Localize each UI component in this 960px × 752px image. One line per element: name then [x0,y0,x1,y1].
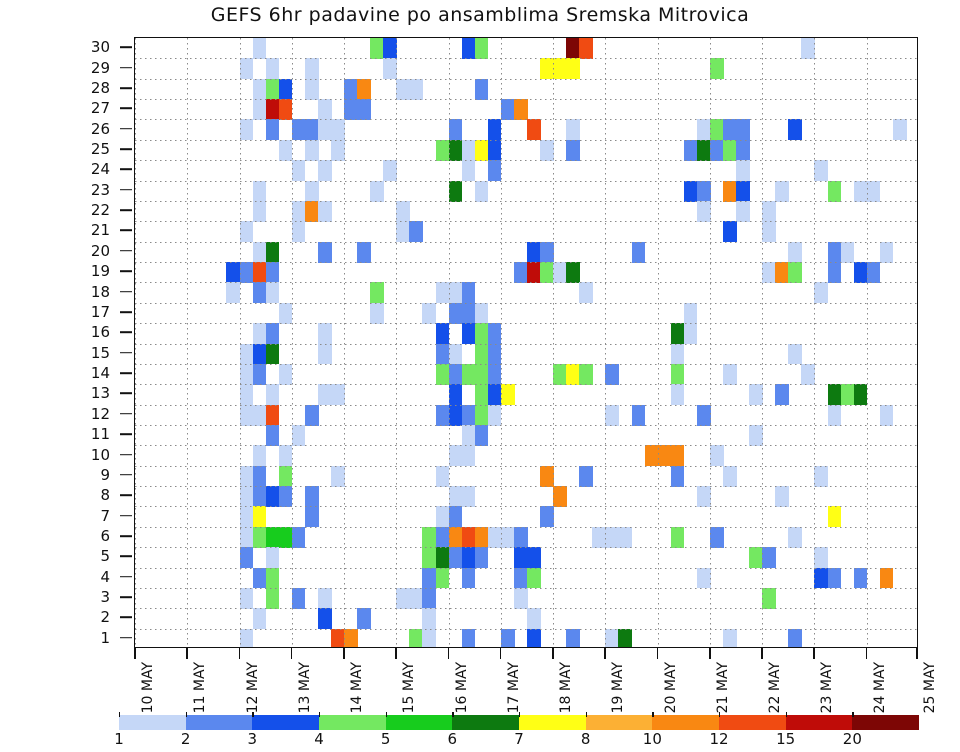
heatmap-cell [253,527,267,548]
heatmap-cell [788,629,802,648]
heatmap-cell [710,58,724,79]
heatmap-cell [723,119,737,140]
y-axis-tick-mark [120,311,132,313]
heatmap-cell [697,568,711,589]
y-axis-tick-mark [120,148,132,150]
heatmap-cell [671,344,685,365]
y-axis-tick-label: 13 [91,384,110,402]
heatmap-cell [266,405,280,426]
heatmap-cell [618,629,632,648]
y-axis-tick-mark [120,535,132,537]
heatmap-cell [240,547,254,568]
heatmap-cell [436,282,450,303]
x-axis-tick-label: 24 MAY [872,662,888,713]
heatmap-cell [488,140,502,161]
x-axis-tick-mark [500,648,502,659]
x-axis-tick-label: 21 MAY [715,662,731,713]
heatmap-cell [592,527,606,548]
heatmap-cell [253,242,267,263]
heatmap-cell [253,506,267,527]
heatmap-cell [762,262,776,283]
heatmap-cell [422,629,436,648]
heatmap-cell [253,445,267,466]
heatmap-cell [449,282,463,303]
heatmap-cell [788,527,802,548]
x-axis-tick-label: 13 MAY [297,662,313,713]
heatmap-cell [475,344,489,365]
heatmap-cell [462,160,476,181]
x-axis-tick-mark [604,648,606,659]
heatmap-cell [475,527,489,548]
heatmap-cell [710,445,724,466]
heatmap-cell [488,344,502,365]
y-axis-tick-label: 12 [91,405,110,423]
heatmap-cell [449,547,463,568]
x-axis-tick-mark [395,648,397,659]
heatmap-cell [462,38,476,59]
heatmap-cell [449,445,463,466]
heatmap-cell [488,405,502,426]
heatmap-cell [253,405,267,426]
heatmap-cell [253,466,267,487]
x-axis-tick-mark [343,648,345,659]
heatmap-cell [867,262,881,283]
heatmap-cell [762,201,776,222]
y-axis-tick-mark [120,556,132,558]
colorbar-segment [519,715,586,730]
heatmap-cell [436,506,450,527]
heatmap-cell [814,282,828,303]
colorbar-tick-label: 2 [181,730,191,748]
heatmap-cell [566,364,580,385]
x-axis-tick-mark [552,648,554,659]
heatmap-cell [409,588,423,609]
heatmap-cell [253,282,267,303]
colorbar-segment [586,715,653,730]
heatmap-cell [475,384,489,405]
heatmap-cell [305,506,319,527]
heatmap-cell [736,181,750,202]
heatmap-cell [605,405,619,426]
heatmap-cell [279,140,293,161]
heatmap-cell [788,242,802,263]
heatmap-cell [671,384,685,405]
x-axis-tick-label: 18 MAY [558,662,574,713]
heatmap-cell [292,527,306,548]
heatmap-cell [266,242,280,263]
heatmap-cell [475,303,489,324]
heatmap-cell [867,181,881,202]
heatmap-cell [422,588,436,609]
y-axis-tick-label: 25 [91,140,110,158]
heatmap-cell [736,140,750,161]
colorbar-tick-mark [586,712,587,717]
heatmap-cell [396,201,410,222]
heatmap-cell [240,466,254,487]
heatmap-cell [462,140,476,161]
heatmap-cell [723,466,737,487]
heatmap-cell [854,181,868,202]
y-axis-tick-label: 21 [91,221,110,239]
heatmap-cell [449,119,463,140]
heatmap-cell [240,344,254,365]
heatmap-cell [828,405,842,426]
heatmap-cell [266,344,280,365]
heatmap-cell [396,79,410,100]
y-axis-tick-mark [120,209,132,211]
heatmap-cell [814,547,828,568]
heatmap-cell [697,405,711,426]
heatmap-cell [710,119,724,140]
heatmap-cell [475,181,489,202]
heatmap-cell [279,79,293,100]
heatmap-cell [527,568,541,589]
colorbar-tick-label: 20 [843,730,862,748]
heatmap-cell [305,405,319,426]
heatmap-cell [566,629,580,648]
y-axis-tick-label: 26 [91,120,110,138]
heatmap-cell [318,608,332,629]
heatmap-cell [279,303,293,324]
heatmap-cell [396,588,410,609]
y-axis-tick-label: 14 [91,364,110,382]
heatmap-cell [422,568,436,589]
x-axis-tick-label: 11 MAY [192,662,208,713]
y-axis-tick-mark [120,393,132,395]
y-axis-tick-label: 11 [91,425,110,443]
colorbar-labels: 1234567810121520 [119,730,919,752]
heatmap-cell [605,364,619,385]
heatmap-cell [331,384,345,405]
heatmap-cell [527,547,541,568]
heatmap-cell [305,181,319,202]
heatmap-cell [449,384,463,405]
heatmap-cell [684,140,698,161]
heatmap-cell [566,262,580,283]
heatmap-cell [475,425,489,446]
heatmap-cell [449,405,463,426]
heatmap-cell [475,405,489,426]
heatmap-cell [253,262,267,283]
x-axis-tick-label: 23 MAY [819,662,835,713]
colorbar-tick-label: 12 [709,730,728,748]
colorbar [119,715,919,730]
heatmap-cell [462,527,476,548]
heatmap-cell [253,323,267,344]
heatmap-cell [279,99,293,120]
y-axis-tick-label: 30 [91,38,110,56]
heatmap-cell [854,568,868,589]
x-axis-tick-mark [813,648,815,659]
heatmap-cell [684,181,698,202]
heatmap-cell [880,242,894,263]
heatmap-cell [344,79,358,100]
heatmap-cell [488,527,502,548]
colorbar-segment [786,715,853,730]
y-axis-tick-label: 20 [91,242,110,260]
heatmap-cell [240,119,254,140]
heatmap-cell [449,506,463,527]
colorbar-tick-mark [452,712,453,717]
heatmap-cell [266,547,280,568]
heatmap-cell [253,364,267,385]
colorbar-tick-label: 4 [314,730,324,748]
heatmap-cell [449,344,463,365]
heatmap-cell [240,527,254,548]
x-axis-tick-label: 20 MAY [663,662,679,713]
y-axis-tick-label: 27 [91,99,110,117]
heatmap-cell [279,527,293,548]
heatmap-cell [240,221,254,242]
heatmap-cell [723,629,737,648]
y-axis-tick-mark [120,332,132,334]
heatmap-cell [788,262,802,283]
heatmap-cell [240,262,254,283]
heatmap-cell [462,568,476,589]
heatmap-cell [527,629,541,648]
heatmap-cell [527,242,541,263]
y-axis-tick-label: 22 [91,201,110,219]
x-axis-tick-label: 12 MAY [245,662,261,713]
heatmap-cell [841,242,855,263]
x-axis-tick-mark [448,648,450,659]
heatmap-cell [462,364,476,385]
heatmap-cell [828,262,842,283]
heatmap-cell [449,486,463,507]
heatmap-cell [475,547,489,568]
heatmap-cell [723,221,737,242]
heatmap-cell [449,303,463,324]
y-axis-tick-mark [120,596,132,598]
heatmap-cell [645,445,659,466]
heatmap-cell [318,99,332,120]
heatmap-cell [501,99,515,120]
colorbar-tick-label: 15 [776,730,795,748]
heatmap-cell [266,568,280,589]
heatmap-cell [318,242,332,263]
y-axis-tick-mark [120,352,132,354]
x-axis-tick-label: 10 MAY [140,662,156,713]
heatmap-cell [632,242,646,263]
heatmap-cell [344,629,358,648]
y-axis-tick-label: 7 [100,507,110,525]
heatmap-cell [854,384,868,405]
y-axis-tick-mark [120,413,132,415]
y-axis-tick-label: 19 [91,262,110,280]
colorbar-tick-label: 6 [448,730,458,748]
heatmap-cell [253,38,267,59]
colorbar-tick-mark [852,712,853,717]
heatmap-cell [240,486,254,507]
y-axis-tick-label: 2 [100,608,110,626]
y-axis-tick-mark [120,454,132,456]
colorbar-segment [386,715,453,730]
heatmap-cells [135,38,917,647]
heatmap-cell [266,99,280,120]
y-axis-tick-mark [120,87,132,89]
x-axis-tick-mark [291,648,293,659]
heatmap-cell [658,445,672,466]
heatmap-cell [436,323,450,344]
heatmap-cell [488,160,502,181]
heatmap-cell [436,364,450,385]
heatmap-cell [475,140,489,161]
heatmap-cell [383,58,397,79]
colorbar-segment [319,715,386,730]
heatmap-cell [279,466,293,487]
heatmap-cell [462,425,476,446]
chart-page: GEFS 6hr padavine po ansamblima Sremska … [0,0,960,742]
x-axis-tick-label: 17 MAY [506,662,522,713]
y-axis-tick-mark [120,46,132,48]
heatmap-cell [762,221,776,242]
heatmap-cell [527,608,541,629]
y-axis-tick-label: 23 [91,181,110,199]
heatmap-cell [723,364,737,385]
y-axis-tick-label: 9 [100,466,110,484]
heatmap-cell [814,568,828,589]
y-axis-tick-label: 16 [91,323,110,341]
heatmap-cell [488,323,502,344]
heatmap-cell [226,282,240,303]
heatmap-cell [553,262,567,283]
y-axis-tick-label: 24 [91,160,110,178]
heatmap-cell [266,79,280,100]
heatmap-cell [710,527,724,548]
y-axis-tick-mark [120,617,132,619]
heatmap-cell [266,119,280,140]
colorbar-tick-mark [386,712,387,717]
heatmap-cell [318,119,332,140]
heatmap-cell [436,140,450,161]
x-axis-tick-label: 25 MAY [922,662,938,713]
heatmap-cell [488,384,502,405]
heatmap-cell [462,445,476,466]
heatmap-cell [357,79,371,100]
heatmap-cell [292,425,306,446]
y-axis-tick-mark [120,250,132,252]
colorbar-segment [719,715,786,730]
heatmap-cell [788,119,802,140]
heatmap-cell [814,160,828,181]
heatmap-cell [828,181,842,202]
heatmap-cell [449,364,463,385]
colorbar-tick-mark [652,712,653,717]
heatmap-cell [357,242,371,263]
heatmap-cell [671,527,685,548]
heatmap-cell [266,323,280,344]
heatmap-cell [605,629,619,648]
heatmap-cell [344,99,358,120]
heatmap-cell [449,181,463,202]
heatmap-cell [266,527,280,548]
heatmap-cell [462,405,476,426]
heatmap-cell [240,405,254,426]
colorbar-tick-label: 3 [248,730,258,748]
y-axis-tick-label: 29 [91,59,110,77]
heatmap-cell [488,364,502,385]
y-axis-tick-label: 10 [91,446,110,464]
colorbar-tick-label: 10 [643,730,662,748]
heatmap-cell [501,527,515,548]
heatmap-cell [266,384,280,405]
y-axis-tick-mark [120,433,132,435]
heatmap-cell [828,242,842,263]
y-axis-tick-label: 28 [91,79,110,97]
heatmap-cell [318,201,332,222]
heatmap-cell [318,588,332,609]
x-axis-tick-label: 15 MAY [401,662,417,713]
heatmap-cell [240,588,254,609]
colorbar-tick-mark [786,712,787,717]
heatmap-cell [579,364,593,385]
heatmap-cell [684,323,698,344]
heatmap-cell [305,140,319,161]
heatmap-plot-area [134,37,918,648]
heatmap-cell [305,119,319,140]
heatmap-cell [292,588,306,609]
heatmap-cell [279,486,293,507]
heatmap-cell [462,629,476,648]
heatmap-cell [775,181,789,202]
heatmap-cell [253,181,267,202]
heatmap-cell [240,58,254,79]
heatmap-cell [553,364,567,385]
y-axis-tick-mark [120,128,132,130]
heatmap-cell [462,282,476,303]
heatmap-cell [697,119,711,140]
heatmap-cell [226,262,240,283]
heatmap-cell [618,527,632,548]
y-axis-tick-label: 6 [100,527,110,545]
heatmap-cell [880,405,894,426]
y-axis: 1234567891011121314151617181920212223242… [0,37,132,648]
heatmap-cell [880,568,894,589]
heatmap-cell [540,58,554,79]
y-axis-tick-label: 4 [100,568,110,586]
heatmap-cell [893,119,907,140]
heatmap-cell [775,384,789,405]
y-axis-tick-mark [120,67,132,69]
heatmap-cell [605,527,619,548]
heatmap-cell [318,384,332,405]
heatmap-cell [736,160,750,181]
heatmap-cell [671,445,685,466]
heatmap-cell [736,119,750,140]
heatmap-cell [749,425,763,446]
y-axis-tick-label: 17 [91,303,110,321]
heatmap-cell [540,466,554,487]
heatmap-cell [462,303,476,324]
heatmap-cell [253,344,267,365]
heatmap-cell [253,608,267,629]
heatmap-cell [841,384,855,405]
colorbar-segment [186,715,253,730]
heatmap-cell [409,221,423,242]
heatmap-cell [370,181,384,202]
heatmap-cell [409,79,423,100]
heatmap-cell [305,201,319,222]
y-axis-tick-mark [120,494,132,496]
heatmap-cell [540,140,554,161]
y-axis-tick-mark [120,474,132,476]
colorbar-tick-mark [719,712,720,717]
heatmap-cell [305,486,319,507]
heatmap-cell [436,405,450,426]
heatmap-cell [566,140,580,161]
heatmap-cell [697,181,711,202]
heatmap-cell [697,201,711,222]
